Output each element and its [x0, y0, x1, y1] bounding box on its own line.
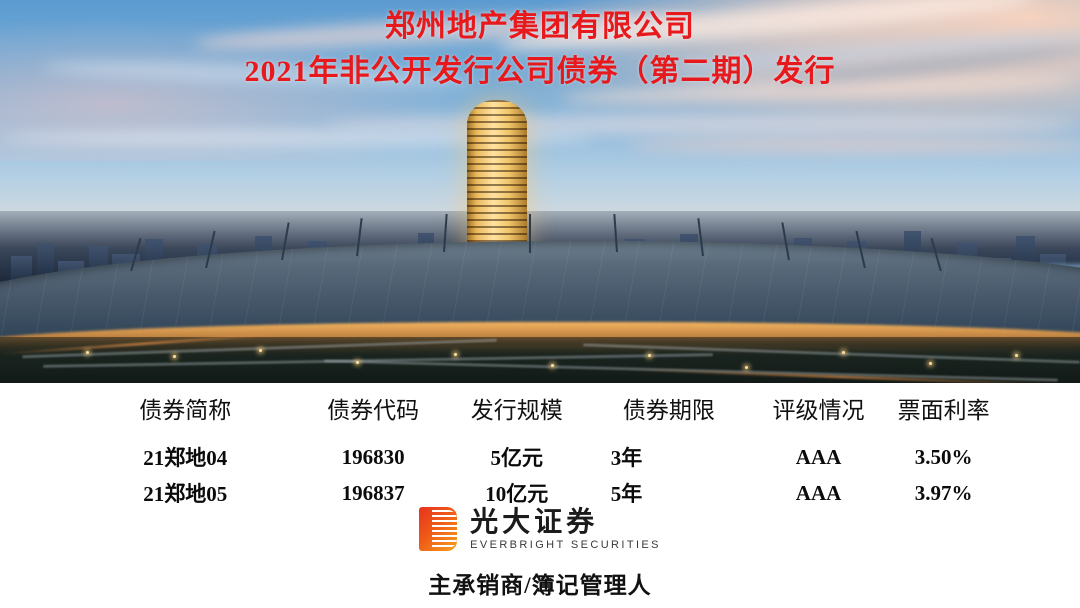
poster-title-block: 郑州地产集团有限公司 2021年非公开发行公司债券（第二期）发行	[0, 8, 1080, 92]
bond-table: 债券简称 债券代码 发行规模 债券期限 评级情况 票面利率 21郑地04 196…	[75, 383, 1005, 511]
cell-scale: 5亿元	[451, 439, 583, 475]
foreground-ground	[0, 337, 1080, 383]
cell-term: 3年	[583, 439, 755, 475]
bond-issuance-poster: 郑州地产集团有限公司 2021年非公开发行公司债券（第二期）发行 债券简称 债券…	[0, 0, 1080, 608]
cell-coupon: 3.50%	[882, 439, 1005, 475]
column-header-term: 债券期限	[583, 383, 755, 439]
city-skyline-photo: 郑州地产集团有限公司 2021年非公开发行公司债券（第二期）发行	[0, 0, 1080, 383]
cell-rating: AAA	[755, 439, 882, 475]
brand-text-block: 光大证券 EVERBRIGHT SECURITIES	[470, 508, 661, 551]
column-header-abbr: 债券简称	[75, 383, 295, 439]
cell-abbr: 21郑地04	[75, 439, 295, 475]
title-line-issue: 2021年非公开发行公司债券（第二期）发行	[0, 52, 1080, 92]
column-header-rating: 评级情况	[755, 383, 882, 439]
column-header-coupon: 票面利率	[882, 383, 1005, 439]
cell-code: 196830	[295, 439, 450, 475]
table-header-row: 债券简称 债券代码 发行规模 债券期限 评级情况 票面利率	[75, 383, 1005, 439]
underwriter-role-label: 主承销商/簿记管理人	[0, 566, 1080, 600]
brand-name-cn: 光大证券	[470, 508, 661, 536]
everbright-brand-lockup: 光大证券 EVERBRIGHT SECURITIES	[0, 503, 1080, 555]
column-header-code: 债券代码	[295, 383, 450, 439]
underwriter-footer: 光大证券 EVERBRIGHT SECURITIES 主承销商/簿记管理人	[0, 503, 1080, 608]
column-header-scale: 发行规模	[451, 383, 583, 439]
title-line-company: 郑州地产集团有限公司	[0, 8, 1080, 46]
table-row: 21郑地04 196830 5亿元 3年 AAA 3.50%	[75, 439, 1005, 475]
brand-name-en: EVERBRIGHT SECURITIES	[470, 540, 661, 551]
bond-table-section: 债券简称 债券代码 发行规模 债券期限 评级情况 票面利率 21郑地04 196…	[0, 383, 1080, 503]
everbright-e-mark-icon	[419, 507, 457, 551]
